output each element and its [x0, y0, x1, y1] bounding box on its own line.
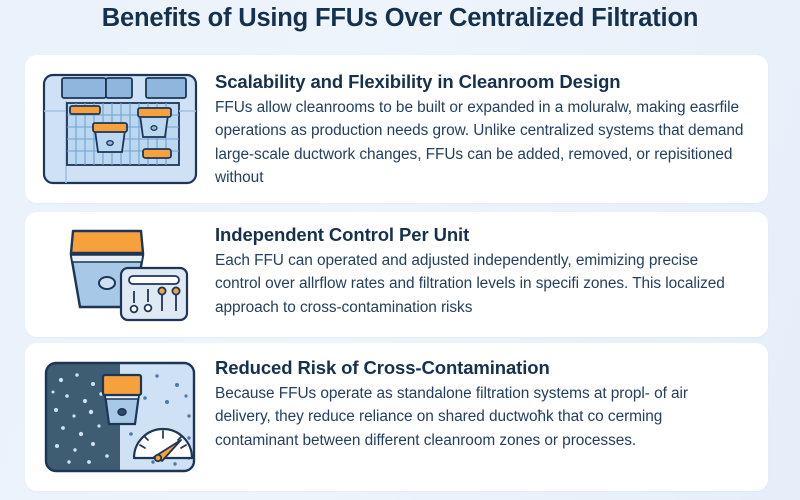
benefit-card-scalability: Scalability and Flexibility in Cleanroom…: [25, 55, 768, 203]
infographic-page: Benefits of Using FFUs Over Centralized …: [0, 0, 800, 500]
benefit-card-independent-control: Independent Control Per Unit Each FFU ca…: [25, 212, 768, 337]
illustration-ffu-with-control-panel-icon: [25, 212, 215, 337]
ffu-unit-a: [93, 123, 127, 152]
benefit-card-cross-contamination: Reduced Risk of Cross-Contamination Beca…: [25, 343, 768, 491]
illustration-cleanroom-ceiling-grid-icon: [25, 55, 215, 203]
cleanroom-grid-svg: [40, 71, 200, 187]
card-heading: Reduced Risk of Cross-Contamination: [215, 357, 746, 379]
card-body: Scalability and Flexibility in Cleanroom…: [215, 55, 768, 190]
card-text: Because FFUs operate as standalone filtr…: [215, 382, 746, 452]
zones-gauge-svg: [41, 358, 199, 476]
card-text: Each FFU can operated and adjusted indep…: [215, 249, 746, 319]
ffu-control-panel-svg: [45, 223, 195, 327]
card-heading: Independent Control Per Unit: [215, 224, 746, 246]
ffu-unit-b: [138, 108, 171, 137]
card-text: FFUs allow cleanrooms to be built or exp…: [215, 96, 746, 190]
card-body: Independent Control Per Unit Each FFU ca…: [215, 212, 768, 319]
ffu-unit-icon: [103, 375, 141, 424]
page-title: Benefits of Using FFUs Over Centralized …: [0, 4, 800, 33]
illustration-contaminated-vs-clean-zone-icon: [25, 343, 215, 491]
control-panel-icon: [121, 268, 187, 320]
card-body: Reduced Risk of Cross-Contamination Beca…: [215, 343, 768, 452]
card-heading: Scalability and Flexibility in Cleanroom…: [215, 71, 746, 93]
